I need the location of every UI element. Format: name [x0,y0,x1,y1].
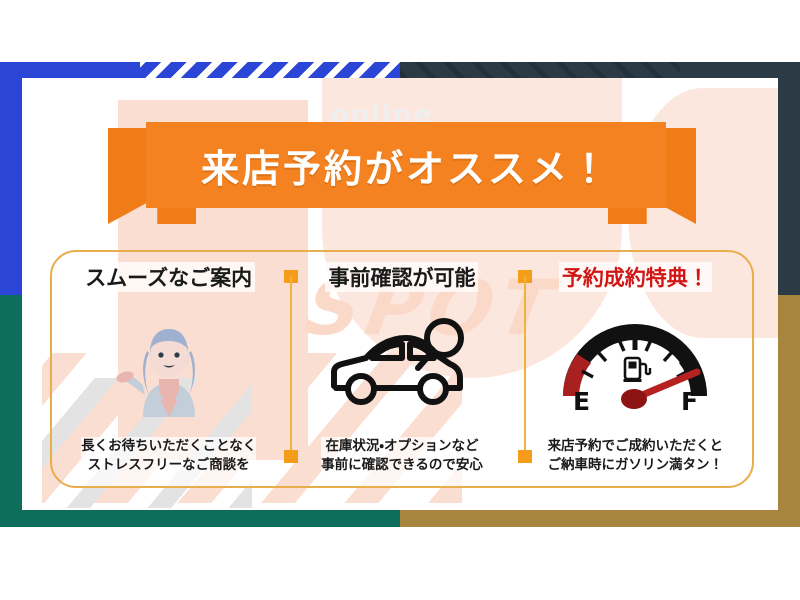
caption-line-1: 長くお待ちいただくことなく [81,438,256,454]
ribbon-banner: 来店予約がオススメ！ [22,122,778,232]
feature-caption: 在庫状況・オプションなど 事前に確認できるので安心 [321,437,483,486]
svg-text:E: E [573,387,590,414]
staff-person-illustration [52,292,285,437]
fuel-gauge-icon: E F [519,292,752,437]
caption-line-2: ご納車時にガソリン満タン！ [548,457,724,473]
banner-image: online SPOT 来店予約がオススメ！ スムーズなご案内 [0,0,800,600]
feature-column-smooth-service: スムーズなご案内 [52,252,285,486]
caption-line-1: 在庫状況・オプションなど [325,438,478,454]
feature-heading: 予約成約特典！ [559,262,712,292]
car-with-magnifier-icon [285,292,518,437]
svg-text:F: F [681,387,698,414]
caption-line-2: 事前に確認できるので安心 [321,457,483,473]
feature-heading: スムーズなご案内 [82,262,255,292]
feature-heading: 事前確認が可能 [325,262,478,292]
promo-banner: online SPOT 来店予約がオススメ！ スムーズなご案内 [0,62,800,527]
caption-line-1: 来店予約でご成約いただくと [548,438,724,454]
feature-caption: 長くお待ちいただくことなく ストレスフリーなご商談を [81,437,256,486]
ribbon-body: 来店予約がオススメ！ [146,122,666,208]
banner-headline: 来店予約がオススメ！ [201,138,611,193]
feature-column-reservation-bonus: 予約成約特典！ [519,252,752,486]
banner-content-card: online SPOT 来店予約がオススメ！ スムーズなご案内 [22,78,778,510]
features-card: スムーズなご案内 [50,250,754,488]
caption-line-2: ストレスフリーなご商談を [88,457,250,473]
feature-column-advance-check: 事前確認が可能 [285,252,518,486]
feature-caption: 来店予約でご成約いただくと ご納車時にガソリン満タン！ [548,437,724,486]
